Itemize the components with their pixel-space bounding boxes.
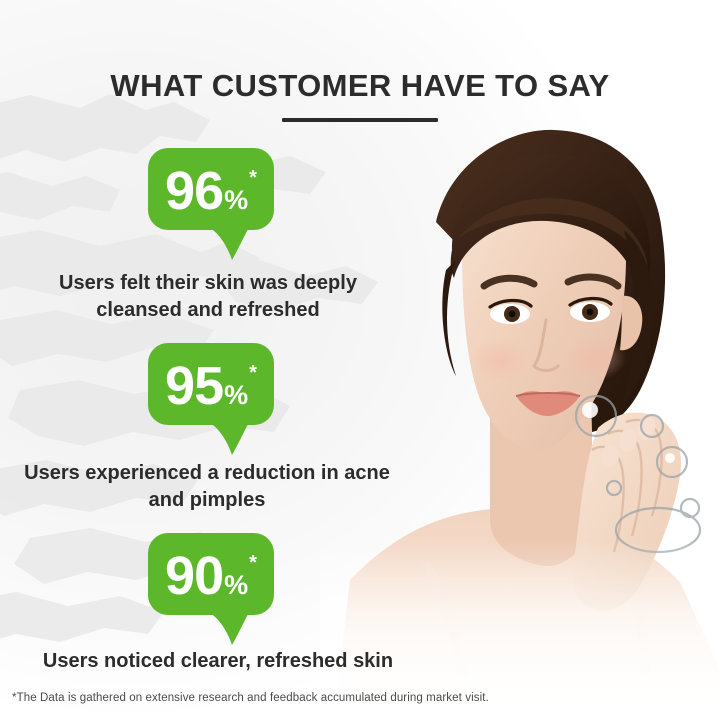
stat-number: 90 — [165, 549, 223, 603]
water-droplets — [540, 380, 720, 580]
page-title: WHAT CUSTOMER HAVE TO SAY — [0, 68, 720, 104]
bubble-body: 96 % * — [148, 148, 274, 230]
percentage-value: 95 % * — [165, 359, 257, 413]
footnote-disclaimer: *The Data is gathered on extensive resea… — [12, 692, 489, 704]
customer-testimonial-poster: WHAT CUSTOMER HAVE TO SAY 96 % * Users f… — [0, 0, 720, 720]
percentage-value: 90 % * — [165, 549, 257, 603]
stat-caption-95: Users experienced a reduction in acne an… — [18, 460, 396, 514]
stat-bubble-96: 96 % * — [148, 148, 274, 230]
percent-symbol: % — [224, 382, 248, 409]
stat-bubble-95: 95 % * — [148, 343, 274, 425]
asterisk-mark: * — [249, 363, 257, 383]
asterisk-mark: * — [249, 168, 257, 188]
title-underline — [282, 118, 438, 122]
bubble-tail-icon — [210, 417, 256, 461]
stat-caption-96: Users felt their skin was deeply cleanse… — [28, 270, 388, 324]
percentage-value: 96 % * — [165, 164, 257, 218]
model-photo — [340, 110, 720, 720]
stat-number: 96 — [165, 164, 223, 218]
bubble-tail-icon — [210, 222, 256, 266]
asterisk-mark: * — [249, 553, 257, 573]
percent-symbol: % — [224, 187, 248, 214]
stat-bubble-90: 90 % * — [148, 533, 274, 615]
stat-number: 95 — [165, 359, 223, 413]
bubble-body: 90 % * — [148, 533, 274, 615]
bubble-tail-icon — [210, 607, 256, 651]
stat-caption-90: Users noticed clearer, refreshed skin — [8, 648, 428, 675]
bubble-body: 95 % * — [148, 343, 274, 425]
percent-symbol: % — [224, 572, 248, 599]
